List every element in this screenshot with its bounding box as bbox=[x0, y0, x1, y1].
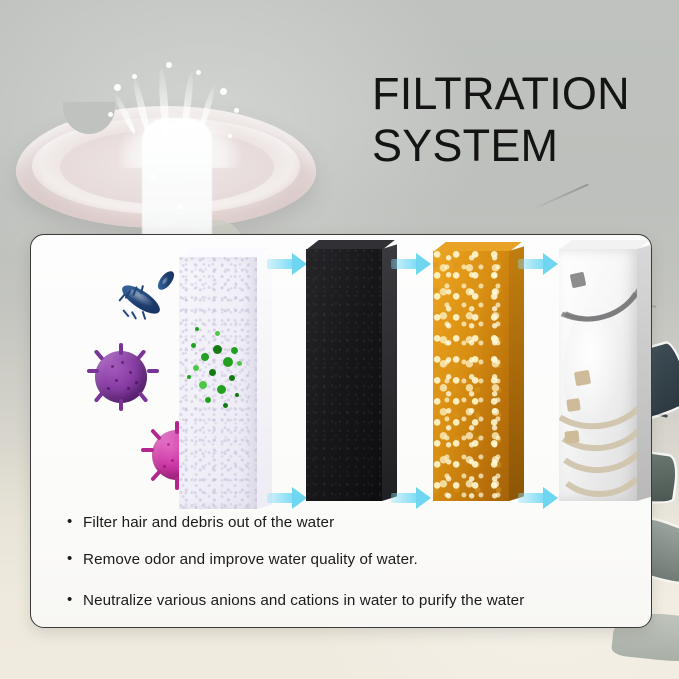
list-item: • Filter hair and debris out of the wate… bbox=[67, 513, 627, 532]
twig-icon bbox=[531, 183, 588, 210]
title-line-1: FILTRATION bbox=[372, 68, 630, 119]
hero-filter-pad-photo bbox=[8, 96, 328, 236]
flow-arrow-top-3 bbox=[518, 253, 558, 275]
filter-layer-white-cotton bbox=[179, 257, 257, 509]
layer-front-face bbox=[179, 257, 257, 509]
bullet-icon: • bbox=[67, 591, 83, 610]
flow-arrow-bottom-1 bbox=[267, 487, 307, 509]
list-item: • Neutralize various anions and cations … bbox=[67, 591, 627, 610]
layer-side-edge bbox=[257, 252, 272, 509]
layer-side-edge bbox=[509, 246, 524, 501]
list-item-label: Filter hair and debris out of the water bbox=[83, 513, 334, 532]
feature-list: • Filter hair and debris out of the wate… bbox=[67, 513, 627, 610]
layer-side-edge bbox=[637, 244, 652, 501]
flow-arrow-bottom-3 bbox=[518, 487, 558, 509]
page-title: FILTRATION SYSTEM bbox=[372, 68, 662, 172]
product-infographic: FILTRATION SYSTEM bbox=[0, 0, 679, 679]
flow-arrow-top-1 bbox=[267, 253, 307, 275]
filtration-diagram-card: • Filter hair and debris out of the wate… bbox=[30, 234, 652, 628]
layer-side-edge bbox=[382, 244, 397, 501]
layer-front-face bbox=[559, 249, 637, 501]
flow-arrow-top-2 bbox=[391, 253, 431, 275]
filter-layer-activated-carbon bbox=[306, 249, 382, 501]
filter-layer-pump-housing bbox=[559, 249, 637, 501]
bullet-icon: • bbox=[67, 513, 83, 532]
layer-front-face bbox=[433, 251, 509, 501]
flow-arrow-bottom-2 bbox=[391, 487, 431, 509]
list-item-label: Neutralize various anions and cations in… bbox=[83, 591, 524, 610]
layer-front-face bbox=[306, 249, 382, 501]
filter-layer-ion-exchange-resin bbox=[433, 251, 509, 501]
title-line-2: SYSTEM bbox=[372, 120, 662, 172]
bullet-icon: • bbox=[67, 550, 83, 569]
list-item: • Remove odor and improve water quality … bbox=[67, 550, 627, 569]
list-item-label: Remove odor and improve water quality of… bbox=[83, 550, 418, 569]
